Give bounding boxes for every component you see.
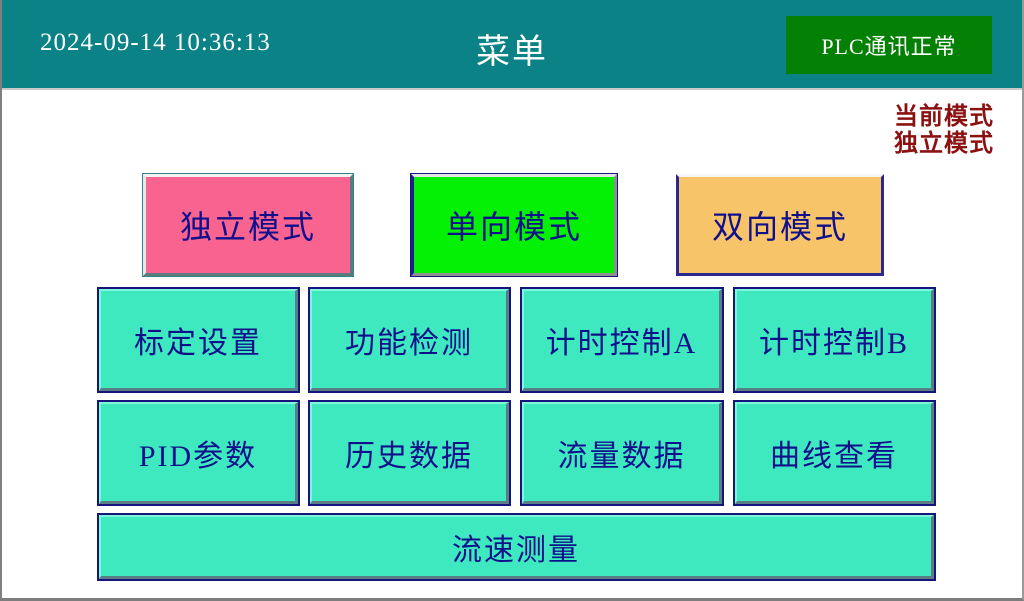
- mode-button-independent[interactable]: 独立模式: [143, 174, 353, 276]
- header-bar: 2024-09-14 10:36:13 菜单 PLC通讯正常: [2, 0, 1022, 90]
- menu-button-function-test[interactable]: 功能检测: [310, 289, 509, 391]
- menu-button-history-data[interactable]: 历史数据: [310, 402, 509, 504]
- plc-status-badge[interactable]: PLC通讯正常: [786, 16, 992, 74]
- current-mode-value: 独立模式: [894, 131, 994, 158]
- menu-button-timing-control-a[interactable]: 计时控制A: [522, 289, 722, 391]
- menu-button-pid-parameters[interactable]: PID参数: [99, 402, 298, 504]
- menu-button-flow-velocity-measurement[interactable]: 流速测量: [99, 515, 934, 579]
- menu-button-calibration-settings[interactable]: 标定设置: [99, 289, 298, 391]
- current-mode-readout: 当前模式 独立模式: [894, 104, 994, 158]
- menu-button-flow-data[interactable]: 流量数据: [522, 402, 722, 504]
- mode-button-oneway[interactable]: 单向模式: [411, 174, 617, 276]
- menu-button-timing-control-b[interactable]: 计时控制B: [735, 289, 934, 391]
- hmi-screen: 2024-09-14 10:36:13 菜单 PLC通讯正常 当前模式 独立模式…: [0, 0, 1024, 601]
- mode-button-twoway[interactable]: 双向模式: [676, 174, 884, 276]
- menu-button-curve-view[interactable]: 曲线查看: [735, 402, 934, 504]
- current-mode-label: 当前模式: [894, 104, 994, 131]
